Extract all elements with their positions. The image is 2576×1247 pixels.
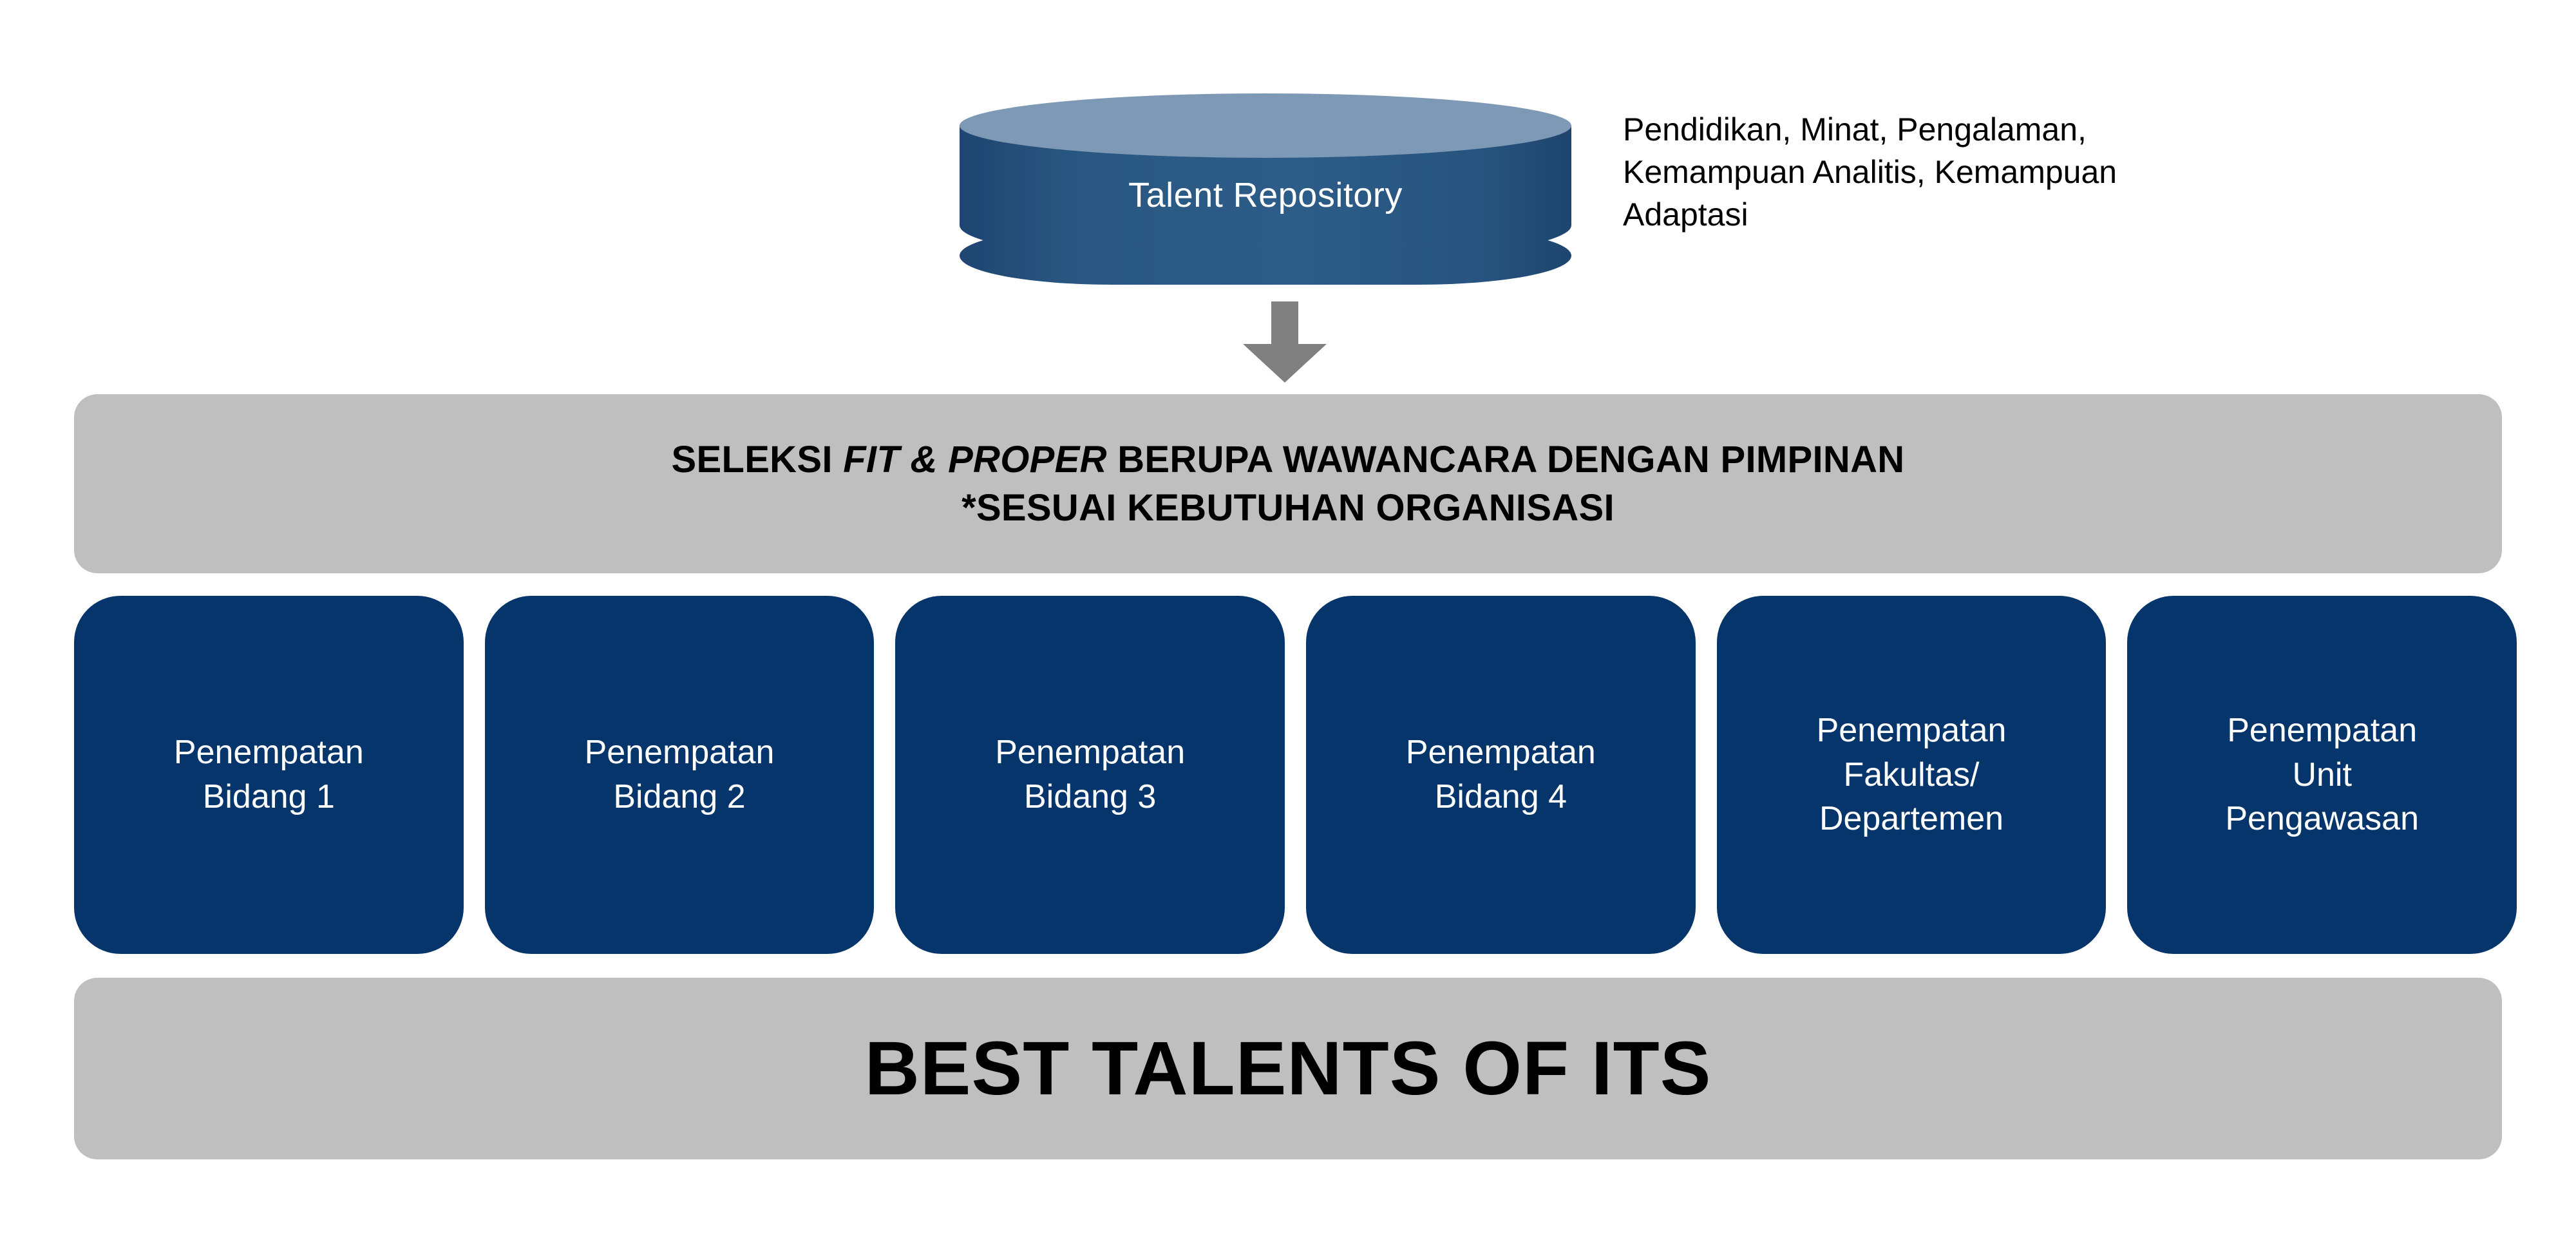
placement-label-line-2: Unit: [2225, 753, 2419, 797]
criteria-annotation: Pendidikan, Minat, Pengalaman, Kemampuan…: [1623, 108, 2331, 236]
selection-banner-line-2: *SESUAI KEBUTUHAN ORGANISASI: [672, 484, 1905, 532]
placement-label-line-1: Penempatan: [1817, 709, 2007, 753]
placement-label-line-1: Penempatan: [995, 730, 1185, 775]
selection-italic-term: FIT & PROPER: [843, 439, 1107, 481]
selection-banner: SELEKSI FIT & PROPER BERUPA WAWANCARA DE…: [74, 394, 2502, 573]
placement-box-bidang-1[interactable]: Penempatan Bidang 1: [74, 596, 464, 954]
placement-box-fakultas-departemen[interactable]: Penempatan Fakultas/ Departemen: [1717, 596, 2107, 954]
placement-label-line-2: Bidang 4: [1406, 775, 1596, 819]
criteria-line-2: Kemampuan Analitis, Kemampuan: [1623, 151, 2331, 193]
placement-label-line-1: Penempatan: [585, 730, 775, 775]
selection-banner-line-1: SELEKSI FIT & PROPER BERUPA WAWANCARA DE…: [672, 435, 1905, 484]
talent-repository-label: Talent Repository: [960, 126, 1571, 264]
placement-label-line-1: Penempatan: [2225, 709, 2419, 753]
placement-box-bidang-4[interactable]: Penempatan Bidang 4: [1306, 596, 1696, 954]
diagram-canvas: Talent Repository Pendidikan, Minat, Pen…: [0, 0, 2576, 1247]
placement-label-line-2: Fakultas/: [1817, 753, 2007, 797]
placement-label-line-2: Bidang 2: [585, 775, 775, 819]
result-banner-text: BEST TALENTS OF ITS: [865, 1025, 1712, 1112]
talent-repository-cylinder: Talent Repository: [960, 93, 1571, 285]
placement-boxes-row: Penempatan Bidang 1 Penempatan Bidang 2 …: [74, 596, 2517, 954]
result-banner: BEST TALENTS OF ITS: [74, 978, 2502, 1159]
selection-prefix: SELEKSI: [672, 439, 844, 481]
placement-box-unit-pengawasan[interactable]: Penempatan Unit Pengawasan: [2127, 596, 2517, 954]
placement-label-line-1: Penempatan: [1406, 730, 1596, 775]
placement-box-bidang-3[interactable]: Penempatan Bidang 3: [895, 596, 1285, 954]
selection-suffix: BERUPA WAWANCARA DENGAN PIMPINAN: [1107, 439, 1905, 481]
placement-label-line-3: Pengawasan: [2225, 797, 2419, 841]
placement-label-line-2: Bidang 3: [995, 775, 1185, 819]
criteria-line-3: Adaptasi: [1623, 193, 2331, 236]
placement-label-line-1: Penempatan: [174, 730, 364, 775]
arrow-down-icon: [1243, 301, 1327, 383]
placement-label-line-3: Departemen: [1817, 797, 2007, 841]
criteria-line-1: Pendidikan, Minat, Pengalaman,: [1623, 108, 2331, 151]
placement-box-bidang-2[interactable]: Penempatan Bidang 2: [485, 596, 875, 954]
placement-label-line-2: Bidang 1: [174, 775, 364, 819]
